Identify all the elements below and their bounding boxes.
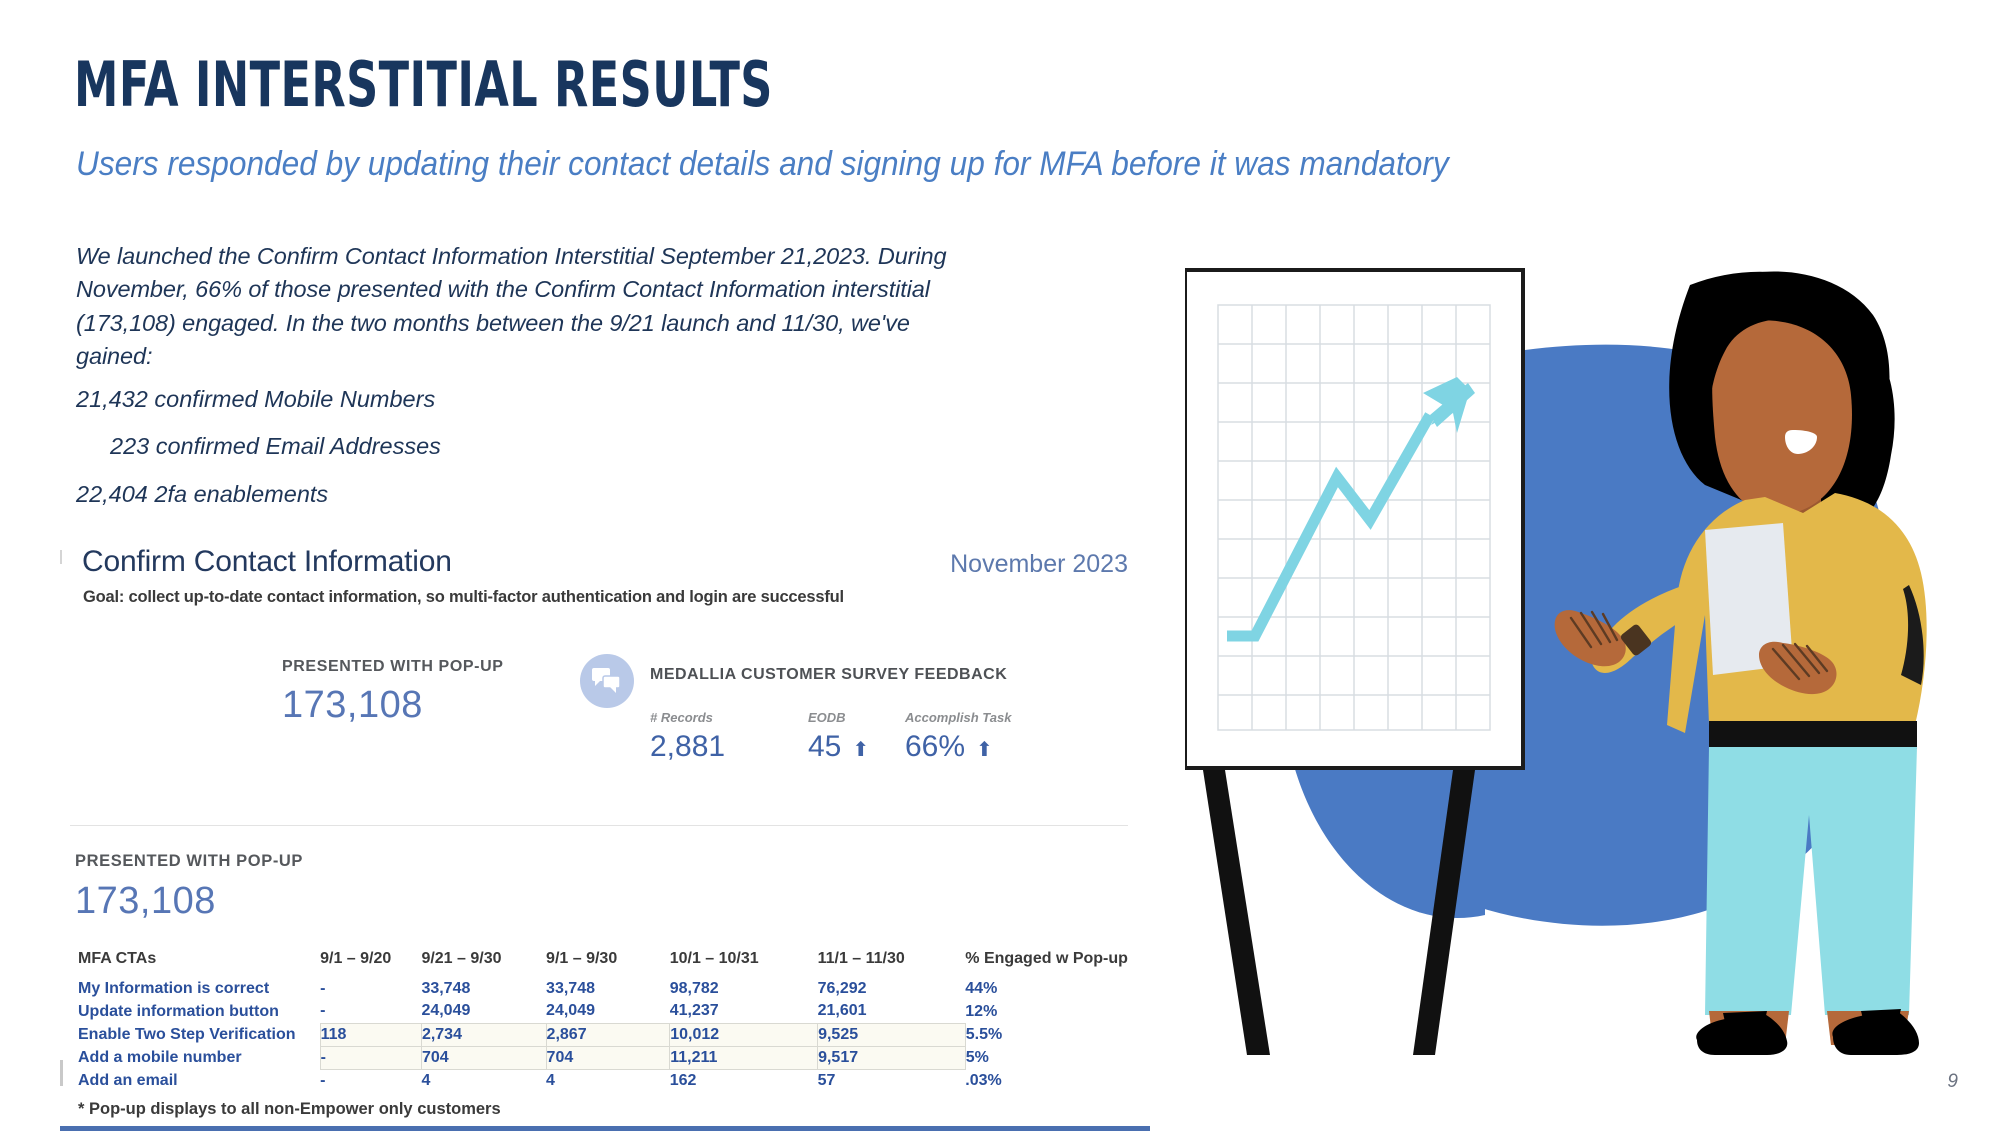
kpi-presented2-label: PRESENTED WITH POP-UP xyxy=(75,852,303,871)
gain-item-email: 223 confirmed Email Addresses xyxy=(110,433,441,460)
metric-records: # Records 2,881 xyxy=(650,710,736,764)
metric-accomplish-task: Accomplish Task 66% ⬆ xyxy=(905,710,1011,764)
dashboard-month-label: November 2023 xyxy=(950,550,1128,579)
table-row: Enable Two Step Verification 118 2,734 2… xyxy=(78,1023,1128,1046)
cell-p3: 4 xyxy=(546,1069,670,1092)
cell-cta-name: Add a mobile number xyxy=(78,1046,320,1069)
table-row: My Information is correct - 33,748 33,74… xyxy=(78,977,1128,1000)
table-row: Add an email - 4 4 162 57 .03% xyxy=(78,1069,1128,1092)
cell-pct: 5% xyxy=(965,1046,1128,1069)
table-row: Add a mobile number - 704 704 11,211 9,5… xyxy=(78,1046,1128,1069)
kpi-presented-value: 173,108 xyxy=(282,684,504,727)
cell-cta-name: Enable Two Step Verification xyxy=(78,1023,320,1046)
th-mfa-ctas: MFA CTAs xyxy=(78,950,320,977)
cell-cta-name: Add an email xyxy=(78,1069,320,1092)
metric-eodb-label: EODB xyxy=(808,710,869,725)
metric-task-label: Accomplish Task xyxy=(905,710,1011,725)
dashboard-goal-text: Goal: collect up-to-date contact informa… xyxy=(83,588,844,607)
dashboard-bottom-accent-bar xyxy=(60,1126,1150,1131)
cell-p1: - xyxy=(320,1046,421,1069)
cell-p3: 704 xyxy=(546,1046,670,1069)
cell-p1: - xyxy=(320,977,421,1000)
th-period-2: 9/21 – 9/30 xyxy=(421,950,546,977)
dashboard-footnote: * Pop-up displays to all non-Empower onl… xyxy=(78,1100,501,1119)
metric-eodb: EODB 45 ⬆ xyxy=(808,710,869,764)
th-percent-engaged: % Engaged w Pop-up xyxy=(965,950,1128,977)
narrative-block: We launched the Confirm Contact Informat… xyxy=(76,240,976,373)
cell-p5: 76,292 xyxy=(818,977,966,1000)
cell-cta-name: My Information is correct xyxy=(78,977,320,1000)
dashboard-left-tick xyxy=(60,1060,63,1086)
page-title: MFA INTERSTITIAL RESULTS xyxy=(74,48,773,121)
cell-p1: 118 xyxy=(320,1023,421,1046)
cell-pct: 5.5% xyxy=(965,1023,1128,1046)
cell-p4: 10,012 xyxy=(670,1023,818,1046)
gain-item-2fa: 22,404 2fa enablements xyxy=(76,481,328,508)
cell-pct: 12% xyxy=(965,1000,1128,1023)
table-header-row: MFA CTAs 9/1 – 9/20 9/21 – 9/30 9/1 – 9/… xyxy=(78,950,1128,977)
cell-cta-name: Update information button xyxy=(78,1000,320,1023)
chat-bubbles-icon xyxy=(580,654,634,708)
gain-item-mobile: 21,432 confirmed Mobile Numbers xyxy=(76,386,435,413)
metric-records-value: 2,881 xyxy=(650,730,725,764)
th-period-4: 10/1 – 10/31 xyxy=(670,950,818,977)
kpi-strip: PRESENTED WITH POP-UP 173,108 MEDALLIA C… xyxy=(60,648,1150,788)
page-subtitle: Users responded by updating their contac… xyxy=(76,145,1449,184)
cell-p2: 24,049 xyxy=(421,1000,546,1023)
cell-p5: 21,601 xyxy=(818,1000,966,1023)
metric-records-label: # Records xyxy=(650,710,736,725)
cell-p1: - xyxy=(320,1000,421,1023)
kpi-presented-with-popup: PRESENTED WITH POP-UP 173,108 xyxy=(282,658,504,727)
mfa-cta-table: MFA CTAs 9/1 – 9/20 9/21 – 9/30 9/1 – 9/… xyxy=(78,950,1128,1092)
dashboard-divider xyxy=(70,825,1128,826)
th-period-5: 11/1 – 11/30 xyxy=(818,950,966,977)
cell-p4: 11,211 xyxy=(670,1046,818,1069)
narrative-paragraph: We launched the Confirm Contact Informat… xyxy=(76,240,976,373)
cell-p5: 9,525 xyxy=(818,1023,966,1046)
page-number: 9 xyxy=(1947,1071,1958,1093)
cell-p2: 2,734 xyxy=(421,1023,546,1046)
metric-task-value: 66% xyxy=(905,730,965,764)
dashboard-edge-marker xyxy=(60,550,62,564)
metric-eodb-value: 45 xyxy=(808,730,841,764)
metric-eodb-arrow-up-icon: ⬆ xyxy=(852,740,869,760)
cell-pct: 44% xyxy=(965,977,1128,1000)
kpi-presented2-value: 173,108 xyxy=(75,880,303,923)
cell-p2: 704 xyxy=(421,1046,546,1069)
kpi-presented-label: PRESENTED WITH POP-UP xyxy=(282,658,504,676)
cell-p5: 9,517 xyxy=(818,1046,966,1069)
cell-p4: 162 xyxy=(670,1069,818,1092)
dashboard-title: Confirm Contact Information xyxy=(82,545,452,579)
cell-p5: 57 xyxy=(818,1069,966,1092)
embedded-dashboard-screenshot: Confirm Contact Information Goal: collec… xyxy=(60,540,1150,1125)
th-period-3: 9/1 – 9/30 xyxy=(546,950,670,977)
cell-p3: 24,049 xyxy=(546,1000,670,1023)
woman-presenting-chart-illustration xyxy=(1185,255,1975,1055)
medallia-title: MEDALLIA CUSTOMER SURVEY FEEDBACK xyxy=(650,666,1007,684)
metric-task-arrow-up-icon: ⬆ xyxy=(976,740,993,760)
cell-p1: - xyxy=(320,1069,421,1092)
cell-p3: 33,748 xyxy=(546,977,670,1000)
cell-p4: 98,782 xyxy=(670,977,818,1000)
cell-p2: 33,748 xyxy=(421,977,546,1000)
cell-p4: 41,237 xyxy=(670,1000,818,1023)
th-period-1: 9/1 – 9/20 xyxy=(320,950,421,977)
table-row: Update information button - 24,049 24,04… xyxy=(78,1000,1128,1023)
cell-pct: .03% xyxy=(965,1069,1128,1092)
cell-p2: 4 xyxy=(421,1069,546,1092)
cell-p3: 2,867 xyxy=(546,1023,670,1046)
kpi-presented-with-popup-secondary: PRESENTED WITH POP-UP 173,108 xyxy=(75,852,303,923)
